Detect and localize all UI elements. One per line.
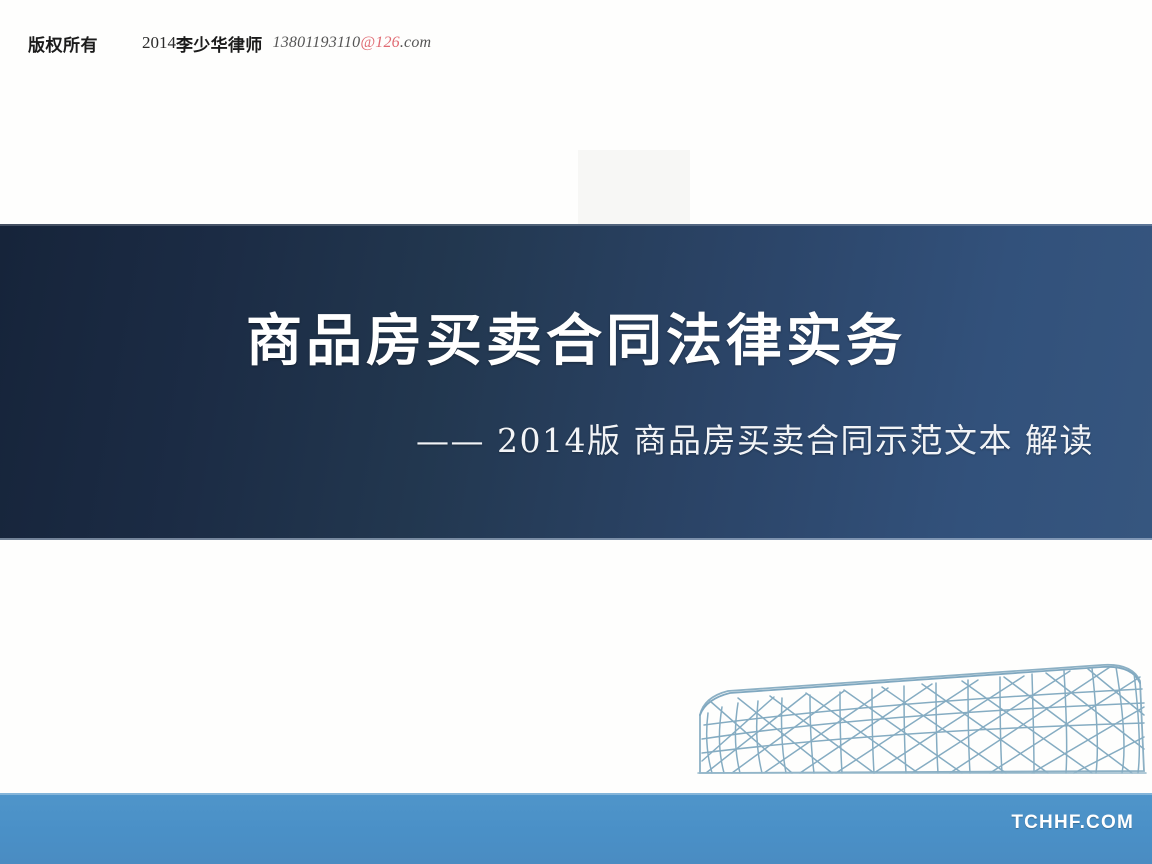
copyright-author: 李少华律师 xyxy=(176,31,263,56)
email-tld-part: .com xyxy=(400,34,431,51)
footer-top-highlight xyxy=(0,793,1152,795)
site-logo[interactable]: TCHHF.COM xyxy=(1011,812,1134,834)
presentation-slide: 版权所有 2014 李少华律师 13801193110@126.com 商品房买… xyxy=(0,0,1152,864)
title-banner: 商品房买卖合同法律实务 —— 2014版 商品房买卖合同示范文本 解读 xyxy=(0,224,1152,540)
banner-bottom-rule xyxy=(0,538,1152,540)
faint-background-block xyxy=(578,150,690,230)
email-user-part: 13801193110 xyxy=(273,34,361,51)
birds-nest-stadium-icon xyxy=(682,653,1152,793)
copyright-year: 2014 xyxy=(142,33,176,53)
page-subtitle: —— 2014版 商品房买卖合同示范文本 解读 xyxy=(0,414,1152,462)
email-host-part: @126 xyxy=(360,34,400,51)
footer-bar: TCHHF.COM xyxy=(0,793,1152,864)
page-title: 商品房买卖合同法律实务 xyxy=(0,296,1152,377)
contact-email: 13801193110@126.com xyxy=(273,34,432,52)
banner-top-rule xyxy=(0,224,1152,226)
copyright-header: 版权所有 2014 李少华律师 13801193110@126.com xyxy=(0,26,1152,60)
copyright-label: 版权所有 xyxy=(28,31,98,56)
